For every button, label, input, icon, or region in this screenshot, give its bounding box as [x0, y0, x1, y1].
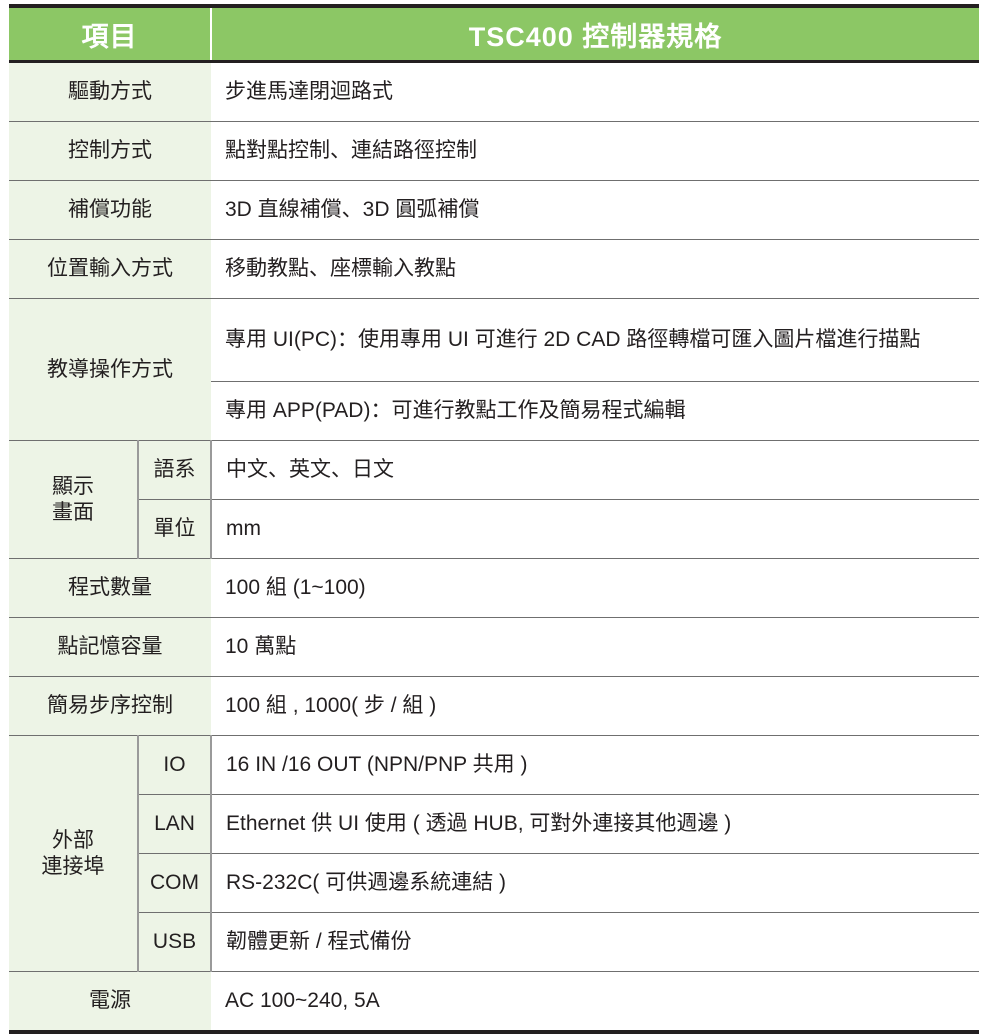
sub-label-lan: LAN [138, 795, 211, 854]
sub-label-unit: 單位 [138, 500, 211, 559]
row-value-control-type: 點對點控制、連結路徑控制 [211, 122, 979, 181]
table-row: 簡易步序控制 100 組 , 1000( 步 / 組 ) [9, 677, 979, 736]
table-row: 外部 連接埠 IO 16 IN /16 OUT (NPN/PNP 共用 ) [9, 736, 979, 795]
sub-label-usb: USB [138, 913, 211, 972]
row-label-power-supply: 電源 [9, 972, 211, 1033]
table-row: 位置輸入方式 移動教點、座標輸入教點 [9, 240, 979, 299]
table-row: 程式數量 100 組 (1~100) [9, 559, 979, 618]
table-row: USB 韌體更新 / 程式備份 [9, 913, 979, 972]
row-value-usb: 韌體更新 / 程式備份 [211, 913, 979, 972]
external-ports-line2: 連接埠 [9, 854, 137, 880]
row-value-sequence-control: 100 組 , 1000( 步 / 組 ) [211, 677, 979, 736]
row-value-io: 16 IN /16 OUT (NPN/PNP 共用 ) [211, 736, 979, 795]
sub-label-io: IO [138, 736, 211, 795]
table-body: 驅動方式 步進馬達閉迴路式 控制方式 點對點控制、連結路徑控制 補償功能 3D … [9, 62, 979, 1033]
external-ports-line1: 外部 [9, 828, 137, 854]
row-value-language: 中文、英文、日文 [211, 441, 979, 500]
row-label-drive-type: 驅動方式 [9, 62, 211, 122]
row-value-unit: mm [211, 500, 979, 559]
row-value-power-supply: AC 100~240, 5A [211, 972, 979, 1033]
table-row: 顯示 畫面 語系 中文、英文、日文 [9, 441, 979, 500]
table-row: 電源 AC 100~240, 5A [9, 972, 979, 1033]
row-label-external-ports: 外部 連接埠 [9, 736, 138, 972]
controller-spec-table: 項目 TSC400 控制器規格 驅動方式 步進馬達閉迴路式 控制方式 點對點控制… [9, 4, 979, 1034]
table-row: COM RS-232C( 可供週邊系統連結 ) [9, 854, 979, 913]
table-row: 單位 mm [9, 500, 979, 559]
display-screen-line2: 畫面 [9, 500, 137, 526]
sub-label-language: 語系 [138, 441, 211, 500]
row-value-com: RS-232C( 可供週邊系統連結 ) [211, 854, 979, 913]
table-row: LAN Ethernet 供 UI 使用 ( 透過 HUB, 可對外連接其他週邊… [9, 795, 979, 854]
sub-label-com: COM [138, 854, 211, 913]
spec-table-container: 項目 TSC400 控制器規格 驅動方式 步進馬達閉迴路式 控制方式 點對點控制… [9, 4, 979, 1034]
table-row: 補償功能 3D 直線補償、3D 圓弧補償 [9, 181, 979, 240]
table-header: 項目 TSC400 控制器規格 [9, 6, 979, 62]
row-label-position-input: 位置輸入方式 [9, 240, 211, 299]
row-label-program-count: 程式數量 [9, 559, 211, 618]
display-screen-line1: 顯示 [9, 474, 137, 500]
row-label-control-type: 控制方式 [9, 122, 211, 181]
row-value-point-memory: 10 萬點 [211, 618, 979, 677]
row-value-teaching-app-pad: 專用 APP(PAD)：可進行教點工作及簡易程式編輯 [211, 382, 979, 441]
header-row: 項目 TSC400 控制器規格 [9, 6, 979, 62]
row-label-point-memory: 點記憶容量 [9, 618, 211, 677]
row-value-lan: Ethernet 供 UI 使用 ( 透過 HUB, 可對外連接其他週邊 ) [211, 795, 979, 854]
row-value-program-count: 100 組 (1~100) [211, 559, 979, 618]
row-value-compensation: 3D 直線補償、3D 圓弧補償 [211, 181, 979, 240]
row-value-drive-type: 步進馬達閉迴路式 [211, 62, 979, 122]
row-value-teaching-ui-pc: 專用 UI(PC)：使用專用 UI 可進行 2D CAD 路徑轉檔可匯入圖片檔進… [211, 299, 979, 382]
row-value-position-input: 移動教點、座標輸入教點 [211, 240, 979, 299]
table-row: 教導操作方式 專用 UI(PC)：使用專用 UI 可進行 2D CAD 路徑轉檔… [9, 299, 979, 382]
row-label-compensation: 補償功能 [9, 181, 211, 240]
table-row: 控制方式 點對點控制、連結路徑控制 [9, 122, 979, 181]
row-label-teaching-operation: 教導操作方式 [9, 299, 211, 441]
row-label-sequence-control: 簡易步序控制 [9, 677, 211, 736]
table-row: 驅動方式 步進馬達閉迴路式 [9, 62, 979, 122]
row-label-display-screen: 顯示 畫面 [9, 441, 138, 559]
header-cell-spec: TSC400 控制器規格 [211, 6, 979, 62]
header-cell-item: 項目 [9, 6, 211, 62]
table-row: 點記憶容量 10 萬點 [9, 618, 979, 677]
